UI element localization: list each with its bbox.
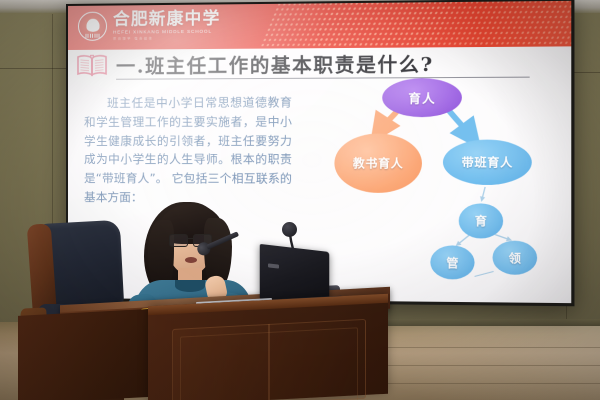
collar (175, 280, 205, 292)
diagram-node-yuren: 育人 (382, 78, 462, 117)
microphone-head (282, 222, 297, 237)
node-label: 教书育人 (353, 155, 403, 171)
school-seal-icon (78, 12, 107, 41)
diagram-node-yu: 育 (459, 203, 503, 238)
node-label: 带班育人 (462, 154, 513, 171)
floor-plank (380, 383, 600, 384)
floor-plank (360, 365, 600, 366)
open-book-icon (76, 54, 108, 78)
wall-seam (52, 14, 53, 244)
school-motto: 厚德博学 强身健体 (113, 37, 220, 41)
desk-front-panel (18, 308, 164, 400)
school-name-en: HEFEI XINKANG MIDDLE SCHOOL (113, 30, 220, 36)
node-label: 育 (475, 213, 487, 230)
node-label: 管 (446, 254, 458, 271)
slide-header-band: 合肥新康中学 HEFEI XINKANG MIDDLE SCHOOL 厚德博学 … (68, 1, 571, 50)
mouth (185, 257, 197, 263)
diagram-node-guan: 管 (430, 245, 474, 279)
slide-title: 一.班主任工作的基本职责是什么? (116, 55, 530, 80)
podium-divider (268, 324, 270, 400)
slide-title-row: 一.班主任工作的基本职责是什么? (76, 51, 530, 80)
diagram-node-daibanyuren: 带班育人 (443, 140, 532, 185)
glasses-bridge (186, 238, 193, 239)
diagram-node-ling: 领 (493, 241, 538, 275)
diagram-node-jiaoshuyuren: 教书育人 (334, 134, 422, 193)
slide-diagram: 育人 教书育人 带班育人 育 管 领 (334, 77, 566, 289)
wall-seam (0, 68, 70, 69)
lecture-hall-photo: 合肥新康中学 HEFEI XINKANG MIDDLE SCHOOL 厚德博学 … (0, 0, 600, 400)
halftone-pattern (304, 1, 459, 50)
node-label: 领 (509, 249, 521, 266)
wooden-podium (148, 294, 388, 400)
school-logo: 合肥新康中学 HEFEI XINKANG MIDDLE SCHOOL 厚德博学 … (78, 10, 221, 40)
node-label: 育人 (408, 89, 435, 107)
slide-body-text: 班主任是中小学日常思想道德教育和学生管理工作的主要实施者，是中小学生健康成长的引… (84, 93, 292, 207)
school-name-cn: 合肥新康中学 (113, 11, 220, 29)
lens-left (169, 234, 188, 247)
